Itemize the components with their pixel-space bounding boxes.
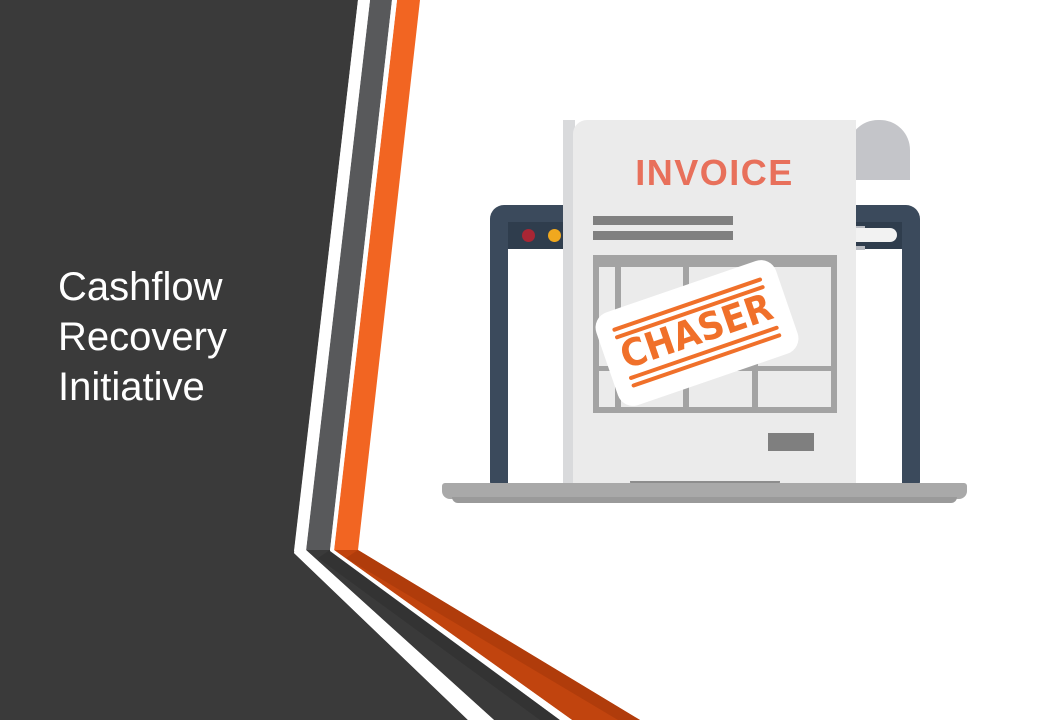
invoice-illustration: INVOICE CHASER	[430, 100, 990, 510]
page-title: Cashflow Recovery Initiative	[58, 262, 358, 412]
invoice-meta-line-1	[593, 216, 733, 225]
invoice-heading: INVOICE	[573, 152, 856, 194]
title-line-2: Recovery	[58, 312, 358, 362]
close-dot-icon	[522, 229, 535, 242]
paper-curl-tab	[848, 120, 910, 180]
minimize-dot-icon	[548, 229, 561, 242]
title-line-1: Cashflow	[58, 262, 358, 312]
laptop-base-lip	[452, 497, 957, 503]
title-line-3: Initiative	[58, 362, 358, 412]
slide-canvas: Cashflow Recovery Initiative INVOICE	[0, 0, 1040, 720]
invoice-total-block	[768, 433, 814, 451]
invoice-meta-line-2	[593, 231, 733, 240]
invoice-table-header	[593, 255, 837, 267]
